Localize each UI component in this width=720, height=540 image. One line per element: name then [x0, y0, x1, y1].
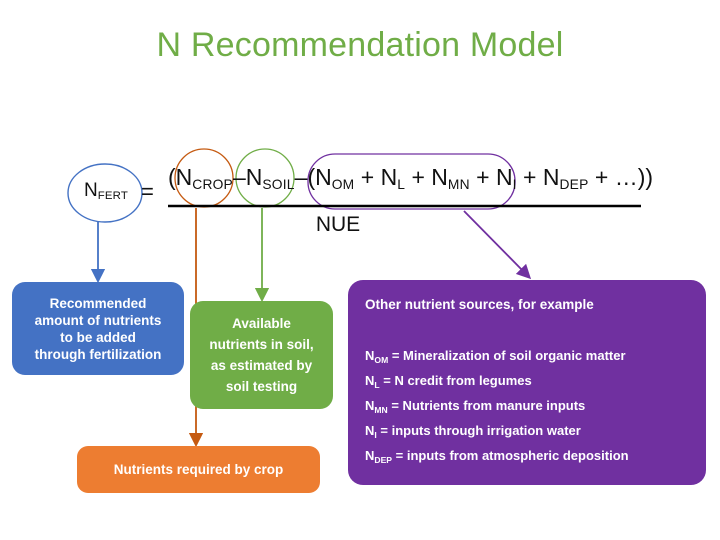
purple-item-3-symbol: N: [365, 423, 374, 438]
purple-item-0-symbol: N: [365, 348, 374, 363]
op-minus-1: –: [233, 164, 246, 190]
purple-item-3-definition: = inputs through irrigation water: [377, 423, 581, 438]
term-ncrop-symbol: N: [176, 164, 193, 190]
list-item: NL = N credit from legumes: [365, 369, 690, 394]
term-ndep-symbol: N: [543, 164, 560, 190]
slide-canvas: N Recommendation Model: [0, 0, 720, 540]
callout-orange-nutrients-required: Nutrients required by crop: [77, 446, 320, 493]
purple-item-2-subscript: MN: [374, 405, 387, 415]
list-item: NI = inputs through irrigation water: [365, 419, 690, 444]
callout-blue-line-4: through fertilization: [35, 346, 162, 363]
callout-green-available-nutrients: Available nutrients in soil, as estimate…: [190, 301, 333, 409]
callout-purple-other-sources: Other nutrient sources, for example NOM …: [348, 280, 706, 485]
purple-item-1-subscript: L: [374, 380, 379, 390]
purple-item-3-subscript: I: [374, 430, 376, 440]
term-nmn-symbol: N: [431, 164, 448, 190]
group-open-paren: (: [307, 164, 315, 190]
term-nl-symbol: N: [381, 164, 398, 190]
term-ni-symbol: N: [496, 164, 513, 190]
purple-item-0-definition: = Mineralization of soil organic matter: [388, 348, 625, 363]
numerator-open-paren: (: [168, 164, 176, 190]
equation-numerator: (NCROP–NSOIL–(NOM + NL + NMN + NI + NDEP…: [168, 166, 653, 189]
purple-item-1-symbol: N: [365, 373, 374, 388]
term-nom-subscript: OM: [332, 177, 355, 192]
group-close-paren: )): [638, 164, 653, 190]
term-nl-subscript: L: [397, 177, 405, 192]
page-title: N Recommendation Model: [0, 26, 720, 65]
callout-blue-line-2: amount of nutrients: [35, 312, 162, 329]
list-item: NMN = Nutrients from manure inputs: [365, 394, 690, 419]
purple-item-4-symbol: N: [365, 448, 374, 463]
purple-item-0-subscript: OM: [374, 355, 388, 365]
list-item: NOM = Mineralization of soil organic mat…: [365, 344, 690, 369]
term-ellipsis: …: [615, 164, 638, 190]
term-nsoil-subscript: SOIL: [262, 177, 294, 192]
term-nmn-subscript: MN: [448, 177, 470, 192]
op-minus-2: –: [295, 164, 308, 190]
term-nom-symbol: N: [315, 164, 332, 190]
purple-item-1-definition: = N credit from legumes: [380, 373, 532, 388]
equation-equals-sign: =: [141, 181, 154, 203]
purple-item-4-definition: = inputs from atmospheric deposition: [392, 448, 629, 463]
purple-item-4-subscript: DEP: [374, 455, 392, 465]
term-ni-subscript: I: [513, 177, 517, 192]
purple-item-2-symbol: N: [365, 398, 374, 413]
callout-blue-line-3: to be added: [60, 329, 136, 346]
equation-denominator: NUE: [168, 214, 508, 235]
term-ncrop-subscript: CROP: [192, 177, 233, 192]
callout-green-line-2: nutrients in soil,: [209, 334, 313, 355]
nfert-symbol: N: [84, 180, 98, 201]
term-ndep-subscript: DEP: [560, 177, 589, 192]
callout-orange-label: Nutrients required by crop: [114, 462, 284, 477]
callout-purple-list: NOM = Mineralization of soil organic mat…: [365, 344, 690, 469]
callout-blue-line-1: Recommended: [50, 295, 147, 312]
callout-green-line-1: Available: [232, 313, 291, 334]
list-item: NDEP = inputs from atmospheric depositio…: [365, 444, 690, 469]
nfert-subscript: FERT: [98, 190, 128, 202]
callout-blue-recommended: Recommended amount of nutrients to be ad…: [12, 282, 184, 375]
callout-purple-heading: Other nutrient sources, for example: [365, 297, 690, 312]
callout-green-emphasis: soil testing: [226, 376, 297, 397]
purple-item-2-definition: = Nutrients from manure inputs: [388, 398, 586, 413]
equation-left-term: NFERT: [70, 181, 142, 200]
callout-green-line-3: as estimated by: [211, 355, 312, 376]
term-nsoil-symbol: N: [246, 164, 263, 190]
